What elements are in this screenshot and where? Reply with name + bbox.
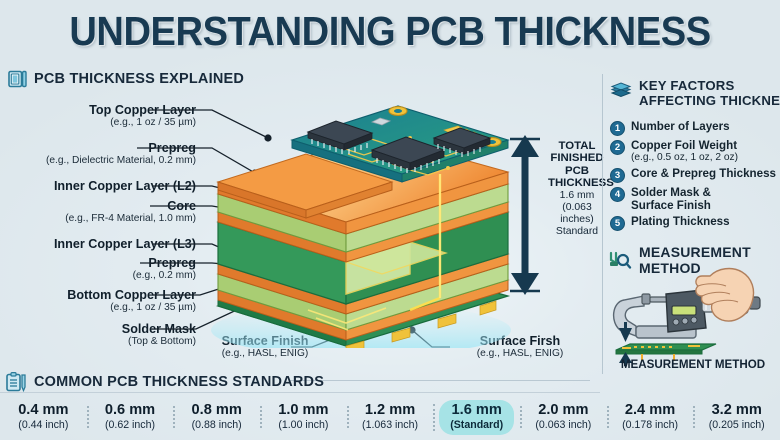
standard-item-0.6mm[interactable]: 0.6 mm (0.62 inch): [87, 402, 174, 432]
layer-label-top-copper: Top Copper Layer (e.g., 1 oz / 35 µm): [0, 103, 196, 129]
standard-item-1.2mm[interactable]: 1.2 mm (1.063 inch): [347, 402, 434, 432]
standard-inch: (0.205 inch): [693, 419, 780, 432]
pcb-stackup-illustration: [196, 78, 526, 348]
key-factor-item: 4 Solder Mask & Surface Finish: [610, 186, 780, 212]
bottom-separator: [0, 392, 600, 393]
panel-divider: [602, 74, 603, 374]
standard-item-3.2mm[interactable]: 3.2 mm (0.205 inch): [693, 402, 780, 432]
stacked-layers-icon: [610, 79, 632, 101]
key-factor-text: Plating Thickness: [631, 215, 730, 228]
standard-inch: (1.063 inch): [347, 419, 434, 432]
standard-item-1.6mm-standard[interactable]: 1.6 mm (Standard): [433, 400, 520, 435]
standard-mm: 0.4 mm: [0, 402, 87, 419]
standard-mm: 0.8 mm: [173, 402, 260, 419]
standard-item-2.0mm[interactable]: 2.0 mm (0.063 inch): [520, 402, 607, 432]
measurement-caption: MEASUREMENT METHOD: [606, 358, 780, 371]
layer-label-prepreg-top: Prepreg (e.g., Dielectric Material, 0.2 …: [0, 141, 196, 167]
standard-mm: 2.0 mm: [520, 402, 607, 419]
layer-label-prepreg-bottom: Prepreg (e.g., 0.2 mm): [0, 256, 196, 282]
standards-heading-rule: [290, 380, 590, 381]
key-factor-number: 1: [610, 121, 625, 136]
key-factor-text: Number of Layers: [631, 120, 730, 133]
layer-label-inner-copper-l2: Inner Copper Layer (L2): [0, 179, 196, 193]
section-heading-standards-label: COMMON PCB THICKNESS STANDARDS: [34, 374, 324, 390]
micrometer-illustration: [606, 266, 780, 366]
layer-label-bottom-copper: Bottom Copper Layer (e.g., 1 oz / 35 µm): [0, 288, 196, 314]
key-factor-item: 2 Copper Foil Weight (e.g., 0.5 oz, 1 oz…: [610, 139, 780, 164]
standards-row: 0.4 mm (0.44 inch) 0.6 mm (0.62 inch) 0.…: [0, 394, 780, 440]
standard-inch: (0.44 inch): [0, 419, 87, 432]
total-thickness-arrow: [508, 135, 542, 295]
standard-mm: 1.6 mm: [450, 402, 503, 419]
key-factor-text: Core & Prepreg Thickness: [631, 167, 776, 180]
key-factor-subtext: (e.g., 0.5 oz, 1 oz, 2 oz): [631, 152, 738, 164]
clipboard-pencil-icon: [5, 372, 27, 392]
key-factor-item: 3 Core & Prepreg Thickness: [610, 167, 780, 183]
standard-item-1.0mm[interactable]: 1.0 mm (1.00 inch): [260, 402, 347, 432]
section-heading-key-factors: KEY FACTORS AFFECTING THICKNESS: [610, 78, 780, 108]
key-factors-list: 1 Number of Layers 2 Copper Foil Weight …: [610, 120, 780, 234]
key-factor-number: 2: [610, 140, 625, 155]
infographic-canvas: UNDERSTANDING PCB THICKNESS PCB THICKNES…: [0, 0, 780, 440]
page-title: UNDERSTANDING PCB THICKNESS: [27, 8, 752, 54]
standard-mm: 2.4 mm: [607, 402, 694, 419]
layer-label-core: Core (e.g., FR-4 Material, 1.0 mm): [0, 199, 196, 225]
total-thickness-callout: TOTAL FINISHED PCB THICKNESS 1.6 mm (0.0…: [548, 140, 606, 238]
standard-item-2.4mm[interactable]: 2.4 mm (0.178 inch): [607, 402, 694, 432]
standard-mm: 1.2 mm: [347, 402, 434, 419]
standard-item-0.8mm[interactable]: 0.8 mm (0.88 inch): [173, 402, 260, 432]
standard-inch: (0.063 inch): [520, 419, 607, 432]
key-factor-text: Solder Mask & Surface Finish: [631, 186, 711, 212]
key-factor-number: 4: [610, 187, 625, 202]
key-factor-number: 3: [610, 168, 625, 183]
layer-label-solder-mask: Solder Mask (Top & Bottom): [0, 322, 196, 348]
standard-mm: 0.6 mm: [87, 402, 174, 419]
standard-inch: (1.00 inch): [260, 419, 347, 432]
standard-mm: 3.2 mm: [693, 402, 780, 419]
standard-mm: 1.0 mm: [260, 402, 347, 419]
key-factor-text: Copper Foil Weight (e.g., 0.5 oz, 1 oz, …: [631, 139, 738, 164]
layer-label-inner-copper-l3: Inner Copper Layer (L3): [0, 237, 196, 251]
standard-inch: (Standard): [450, 419, 503, 432]
book-layers-icon: [8, 70, 27, 88]
key-factor-item: 1 Number of Layers: [610, 120, 780, 136]
standard-inch: (0.62 inch): [87, 419, 174, 432]
standard-item-0.4mm[interactable]: 0.4 mm (0.44 inch): [0, 402, 87, 432]
standard-inch: (0.88 inch): [173, 419, 260, 432]
key-factors-heading-text: KEY FACTORS AFFECTING THICKNESS: [639, 78, 780, 108]
key-factor-number: 5: [610, 216, 625, 231]
key-factor-item: 5 Plating Thickness: [610, 215, 780, 231]
standard-inch: (0.178 inch): [607, 419, 694, 432]
section-heading-standards: COMMON PCB THICKNESS STANDARDS: [5, 372, 324, 392]
